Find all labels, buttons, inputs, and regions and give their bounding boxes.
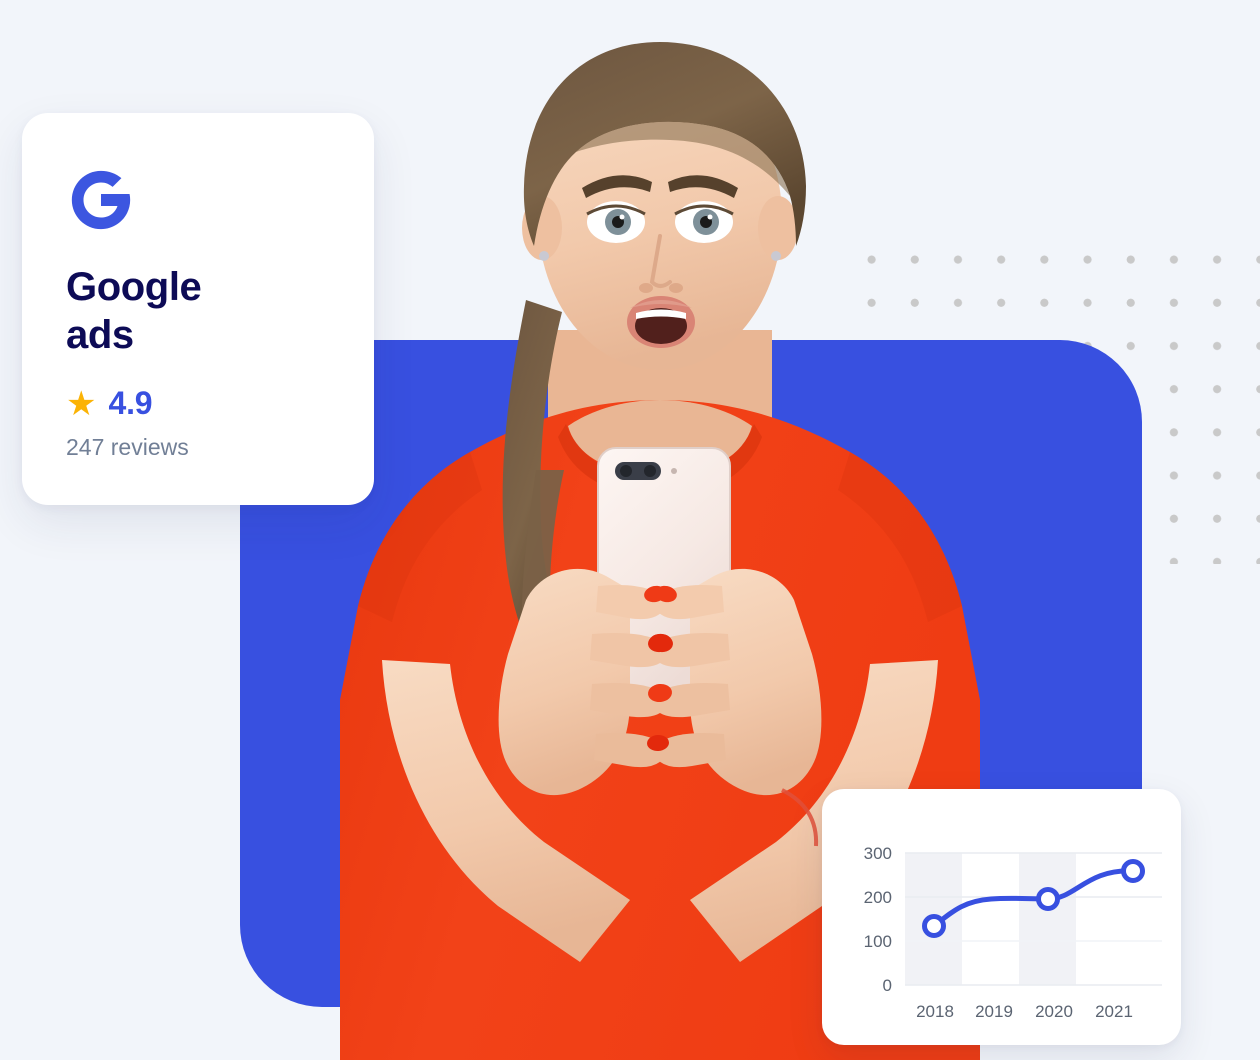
rating-value: 4.9 — [108, 385, 152, 422]
star-icon: ★ — [66, 387, 96, 421]
data-point-2020 — [1039, 890, 1058, 909]
y-tick-300: 300 — [864, 844, 892, 863]
rating-row: ★ 4.9 — [66, 385, 330, 422]
y-tick-200: 200 — [864, 888, 892, 907]
y-tick-0: 0 — [883, 976, 892, 995]
data-point-2018 — [925, 917, 944, 936]
growth-chart-card[interactable]: 300 200 100 0 2018 2019 2020 2021 — [822, 789, 1181, 1045]
page-title: Google ads — [66, 263, 256, 359]
google-g-icon — [66, 165, 136, 235]
column-band-2020 — [1019, 853, 1076, 985]
data-point-2021 — [1124, 862, 1143, 881]
x-tick-2019: 2019 — [975, 1002, 1013, 1021]
reviews-count: 247 reviews — [66, 434, 330, 461]
x-tick-2018: 2018 — [916, 1002, 954, 1021]
x-tick-2021: 2021 — [1095, 1002, 1133, 1021]
y-tick-100: 100 — [864, 932, 892, 951]
google-ads-review-card[interactable]: Google ads ★ 4.9 247 reviews — [22, 113, 374, 505]
x-tick-2020: 2020 — [1035, 1002, 1073, 1021]
growth-line-chart: 300 200 100 0 2018 2019 2020 2021 — [822, 789, 1181, 1045]
page-root: Google ads ★ 4.9 247 reviews 300 200 100… — [0, 0, 1260, 1060]
